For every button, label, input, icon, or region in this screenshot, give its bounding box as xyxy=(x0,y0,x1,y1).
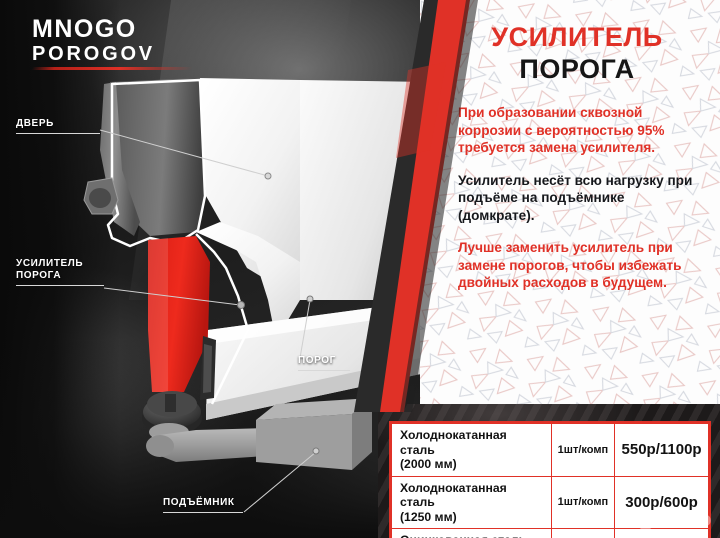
paragraph-corrosion: При образовании сквозной коррозии с веро… xyxy=(458,104,702,157)
page-title-line1: УСИЛИТЕЛЬ xyxy=(458,22,702,52)
label-sill: ПОРОГ xyxy=(298,355,350,371)
jack-pad-slot xyxy=(165,394,176,412)
poster-canvas: ДВЕРЬ УСИЛИТЕЛЬ ПОРОГА ПОРОГ ПОДЪЁМНИК xyxy=(0,0,720,538)
cell-material: Оцинкованная сталь (2000 мм) xyxy=(392,529,552,538)
price-table: Холоднокатанная сталь (2000 мм) 1шт/комп… xyxy=(389,421,711,538)
brand-logo[interactable]: MNOGO POROGOV xyxy=(32,17,192,70)
content-inner: УСИЛИТЕЛЬ ПОРОГА При образовании сквозно… xyxy=(420,0,720,292)
cell-quantity: 1шт/комп xyxy=(551,476,614,529)
logo-red-stripe xyxy=(31,67,193,70)
label-jack-text: ПОДЪЁМНИК xyxy=(163,497,235,508)
leader-dot-door xyxy=(265,173,271,179)
label-door-underline xyxy=(16,133,100,134)
material-line1: Холоднокатанная сталь xyxy=(400,481,507,510)
content-panel: УСИЛИТЕЛЬ ПОРОГА При образовании сквозно… xyxy=(420,0,720,410)
illustration-panel: ДВЕРЬ УСИЛИТЕЛЬ ПОРОГА ПОРОГ ПОДЪЁМНИК xyxy=(0,0,430,538)
page-title-line2: ПОРОГА xyxy=(458,54,702,84)
cell-material: Холоднокатанная сталь (2000 мм) xyxy=(392,424,552,477)
label-reinforcer-underline xyxy=(16,285,104,286)
material-line1: Оцинкованная сталь xyxy=(400,533,526,538)
label-sill-underline xyxy=(298,370,350,371)
label-door-text: ДВЕРЬ xyxy=(16,118,54,129)
label-jack: ПОДЪЁМНИК xyxy=(163,497,243,513)
leader-dot-reinforcer xyxy=(238,302,245,309)
material-line2: (2000 мм) xyxy=(400,457,457,471)
cell-quantity: 1шт/комп xyxy=(551,424,614,477)
label-reinforcer-line1: УСИЛИТЕЛЬ xyxy=(16,258,83,269)
paragraph-advice: Лучше заменить усилитель при замене поро… xyxy=(458,239,702,292)
cell-price: 600р/1200р xyxy=(615,529,709,538)
label-sill-text: ПОРОГ xyxy=(298,355,336,366)
cell-price: 300р/600р xyxy=(615,476,709,529)
pinch-weld-inner xyxy=(203,344,212,393)
logo-line1: MNOGO xyxy=(32,17,192,42)
table-row: Оцинкованная сталь (2000 мм) 1шт/комп 60… xyxy=(392,529,709,538)
logo-line2: POROGOV xyxy=(32,44,192,64)
table-row: Холоднокатанная сталь (1250 мм) 1шт/комп… xyxy=(392,476,709,529)
label-reinforcer: УСИЛИТЕЛЬ ПОРОГА xyxy=(16,258,104,286)
material-line2: (1250 мм) xyxy=(400,510,457,524)
leader-dot-jack xyxy=(313,448,319,454)
body-side-panel xyxy=(300,80,430,300)
label-reinforcer-line2: ПОРОГА xyxy=(16,270,61,281)
price-table-body: Холоднокатанная сталь (2000 мм) 1шт/комп… xyxy=(392,424,709,538)
label-jack-underline xyxy=(163,512,243,513)
leader-dot-sill xyxy=(307,296,313,302)
reinforcer-highlight xyxy=(148,238,168,392)
label-door: ДВЕРЬ xyxy=(16,118,100,134)
paragraph-load: Усилитель несёт всю нагрузку при подъёме… xyxy=(458,172,702,225)
cell-material: Холоднокатанная сталь (1250 мм) xyxy=(392,476,552,529)
material-line1: Холоднокатанная сталь xyxy=(400,428,507,457)
table-row: Холоднокатанная сталь (2000 мм) 1шт/комп… xyxy=(392,424,709,477)
cell-quantity: 1шт/комп xyxy=(551,529,614,538)
weatherstrip-bulb xyxy=(89,188,111,208)
cell-price: 550р/1100р xyxy=(615,424,709,477)
jack-arm-end xyxy=(146,435,174,457)
